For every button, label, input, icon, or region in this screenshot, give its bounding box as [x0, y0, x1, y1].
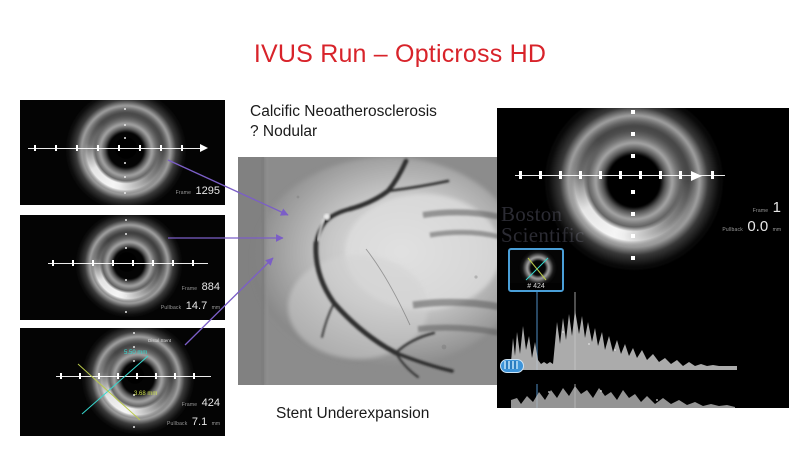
- pullback-unit: mm: [773, 227, 781, 233]
- frame-label: Frame: [753, 208, 768, 214]
- frame-thumbnail-selected[interactable]: # 424: [508, 248, 564, 292]
- pullback-value: 0.0: [747, 218, 768, 235]
- catheter-lumen: [115, 137, 137, 159]
- pullback-value: 14.7: [186, 300, 207, 312]
- ivus-cross-section-panel-2[interactable]: Frame 884 Pullback 14.7 mm: [20, 215, 225, 320]
- catheter-lumen: [117, 252, 137, 272]
- thumbnail-frame-label: # 424: [510, 283, 562, 290]
- pullback-label: Pullback: [722, 227, 743, 233]
- ruler-vertical: [125, 217, 129, 319]
- frame-value: 884: [202, 281, 220, 293]
- vessel-plaque: [78, 102, 174, 198]
- ild-trace: [497, 292, 789, 408]
- coronary-angiogram[interactable]: [238, 157, 500, 385]
- teal-measurement-label: 5.50 mm: [124, 350, 147, 356]
- readout-console: Frame 1 Pullback 0.0 mm: [722, 200, 781, 238]
- vessel-adventitia: [66, 100, 186, 205]
- annotation-calcific-neoatherosclerosis: Calcific Neoatherosclerosis ? Nodular: [250, 102, 437, 142]
- ruler-horizontal: [48, 259, 213, 267]
- vessel-plaque: [88, 223, 170, 305]
- pullback-label: Pullback: [161, 305, 182, 311]
- vessel-plaque: [563, 110, 705, 252]
- ruler-vertical: [631, 108, 636, 264]
- calcific-arc: [553, 108, 715, 262]
- ivus-cross-section-panel-3[interactable]: Distal Stent 5.50 mm 3.68 mm Frame 424 P…: [20, 328, 225, 436]
- readout-panel-1: Frame 1295: [176, 182, 220, 201]
- ruler-horizontal: [28, 144, 218, 152]
- frame-value: 1: [773, 199, 781, 216]
- vessel-adventitia: [545, 108, 723, 270]
- distal-stent-label: Distal Stent: [148, 338, 171, 343]
- yellow-measurement-label: 3.68 mm: [134, 391, 157, 397]
- boston-scientific-watermark: Boston Scientific: [501, 204, 584, 246]
- annotation-stent-underexpansion: Stent Underexpansion: [276, 404, 429, 424]
- readout-panel-2: Frame 884 Pullback 14.7 mm: [161, 278, 220, 316]
- marker-bars-icon: [504, 361, 518, 369]
- ivus-cross-section-panel-1[interactable]: Frame 1295: [20, 100, 225, 205]
- frame-value: 424: [202, 397, 220, 409]
- catheter-lumen: [619, 160, 649, 190]
- page-title: IVUS Run – Opticross HD: [0, 40, 800, 69]
- presentation-slide: IVUS Run – Opticross HD: [0, 0, 800, 450]
- frame-label: Frame: [176, 190, 191, 196]
- pullback-label: Pullback: [167, 421, 188, 427]
- ruler-horizontal: [515, 170, 745, 180]
- frame-value: 1295: [196, 185, 220, 197]
- angiogram-image: [238, 157, 500, 385]
- pullback-unit: mm: [212, 421, 220, 427]
- readout-panel-3: Frame 424 Pullback 7.1 mm: [167, 394, 220, 432]
- transducer-position-marker[interactable]: [498, 357, 524, 373]
- calcific-arc: [72, 100, 180, 204]
- frame-label: Frame: [182, 402, 197, 408]
- frame-label: Frame: [182, 286, 197, 292]
- longitudinal-ild-view[interactable]: [497, 292, 789, 408]
- pullback-unit: mm: [212, 305, 220, 311]
- ruler-vertical: [124, 104, 128, 204]
- pullback-value: 7.1: [192, 416, 207, 428]
